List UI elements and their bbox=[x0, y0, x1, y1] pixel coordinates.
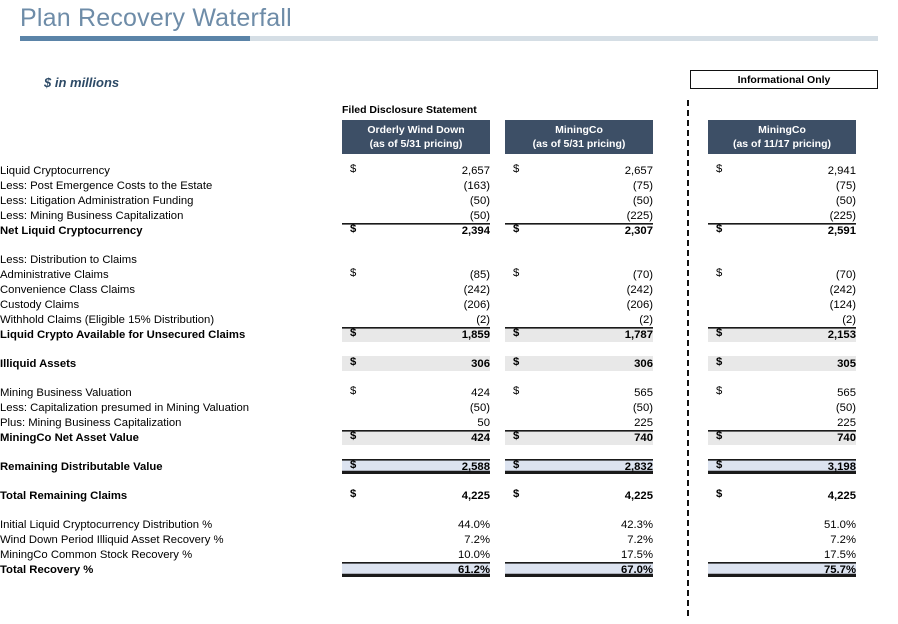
row-tail bbox=[856, 252, 898, 267]
value-cell: (225) bbox=[708, 208, 856, 223]
currency-symbol: $ bbox=[513, 488, 519, 500]
column-header-subtitle: (as of 11/17 pricing) bbox=[733, 137, 831, 151]
currency-symbol: $ bbox=[513, 327, 519, 339]
table-spacer-row bbox=[0, 474, 898, 488]
column-header-name: MiningCo bbox=[555, 123, 603, 137]
value-number: 7.2% bbox=[464, 534, 490, 546]
empty-cell bbox=[856, 371, 898, 385]
empty-cell bbox=[856, 238, 898, 252]
empty-cell bbox=[708, 503, 856, 517]
currency-symbol: $ bbox=[350, 267, 356, 279]
table-row: Less: Post Emergence Costs to the Estate… bbox=[0, 178, 898, 193]
value-cell: $740 bbox=[708, 430, 856, 445]
row-tail bbox=[856, 193, 898, 208]
value-number: 2,941 bbox=[828, 165, 856, 177]
table-row: Total Recovery %61.2%67.0%75.7% bbox=[0, 562, 898, 577]
label-value-gap bbox=[312, 223, 342, 238]
currency-symbol: $ bbox=[350, 459, 356, 471]
table-row: Remaining Distributable Value$2,588$2,83… bbox=[0, 459, 898, 474]
table-row: Initial Liquid Cryptocurrency Distributi… bbox=[0, 517, 898, 532]
currency-symbol: $ bbox=[513, 430, 519, 442]
label-value-gap bbox=[312, 415, 342, 430]
column-header-miningco-1117: MiningCo (as of 11/17 pricing) bbox=[708, 120, 856, 154]
column-separator bbox=[490, 282, 505, 297]
currency-symbol: $ bbox=[716, 459, 722, 471]
row-label bbox=[0, 342, 312, 356]
value-number: 2,153 bbox=[828, 329, 856, 341]
table-row: Withhold Claims (Eligible 15% Distributi… bbox=[0, 312, 898, 327]
value-cell bbox=[708, 252, 856, 267]
value-number: (206) bbox=[464, 299, 490, 311]
value-number: 306 bbox=[471, 358, 490, 370]
row-tail bbox=[856, 459, 898, 474]
column-separator bbox=[653, 193, 708, 208]
column-separator bbox=[490, 193, 505, 208]
label-value-gap bbox=[312, 474, 342, 488]
value-number: (2) bbox=[842, 314, 856, 326]
value-cell: $424 bbox=[342, 430, 490, 445]
row-tail bbox=[856, 178, 898, 193]
row-label bbox=[0, 238, 312, 252]
row-tail bbox=[856, 163, 898, 178]
label-value-gap bbox=[312, 297, 342, 312]
column-separator bbox=[490, 459, 505, 474]
value-number: 424 bbox=[471, 432, 490, 444]
label-value-gap bbox=[312, 178, 342, 193]
value-number: 2,591 bbox=[828, 225, 856, 237]
column-separator bbox=[653, 562, 708, 577]
value-number: 565 bbox=[634, 387, 653, 399]
empty-cell bbox=[653, 474, 708, 488]
value-cell: (50) bbox=[342, 400, 490, 415]
value-cell: $2,588 bbox=[342, 459, 490, 474]
value-cell: 10.0% bbox=[342, 547, 490, 562]
empty-cell bbox=[856, 445, 898, 459]
empty-cell bbox=[505, 503, 653, 517]
value-cell: (242) bbox=[708, 282, 856, 297]
row-label: Liquid Cryptocurrency bbox=[0, 163, 312, 178]
value-number: (225) bbox=[830, 210, 856, 222]
value-number: (50) bbox=[633, 402, 653, 414]
currency-symbol: $ bbox=[350, 356, 356, 368]
row-label: Less: Post Emergence Costs to the Estate bbox=[0, 178, 312, 193]
currency-symbol: $ bbox=[513, 267, 519, 279]
column-separator bbox=[653, 282, 708, 297]
row-tail bbox=[856, 415, 898, 430]
row-tail bbox=[856, 327, 898, 342]
table-row: Liquid Cryptocurrency$2,657$2,657$2,941 bbox=[0, 163, 898, 178]
empty-cell bbox=[856, 503, 898, 517]
table-row: MiningCo Common Stock Recovery %10.0%17.… bbox=[0, 547, 898, 562]
column-separator bbox=[490, 547, 505, 562]
empty-cell bbox=[342, 445, 490, 459]
value-cell: 42.3% bbox=[505, 517, 653, 532]
label-value-gap bbox=[312, 312, 342, 327]
row-tail bbox=[856, 282, 898, 297]
label-value-gap bbox=[312, 327, 342, 342]
value-cell: (75) bbox=[708, 178, 856, 193]
value-cell: $(85) bbox=[342, 267, 490, 282]
table-row: Less: Capitalization presumed in Mining … bbox=[0, 400, 898, 415]
table-row: Wind Down Period Illiquid Asset Recovery… bbox=[0, 532, 898, 547]
empty-cell bbox=[653, 371, 708, 385]
page-title: Plan Recovery Waterfall bbox=[20, 4, 292, 33]
filed-disclosure-statement-caption: Filed Disclosure Statement bbox=[342, 104, 477, 116]
value-cell: $306 bbox=[505, 356, 653, 371]
row-label: Wind Down Period Illiquid Asset Recovery… bbox=[0, 532, 312, 547]
row-tail bbox=[856, 208, 898, 223]
empty-cell bbox=[342, 238, 490, 252]
column-separator bbox=[653, 430, 708, 445]
value-number: 51.0% bbox=[824, 519, 856, 531]
currency-symbol: $ bbox=[513, 385, 519, 397]
value-cell: $2,832 bbox=[505, 459, 653, 474]
value-cell: (50) bbox=[708, 193, 856, 208]
column-separator bbox=[490, 223, 505, 238]
value-cell: $2,657 bbox=[505, 163, 653, 178]
empty-cell bbox=[653, 238, 708, 252]
row-tail bbox=[856, 430, 898, 445]
label-value-gap bbox=[312, 193, 342, 208]
column-separator bbox=[653, 488, 708, 503]
row-label: Administrative Claims bbox=[0, 267, 312, 282]
value-number: 225 bbox=[837, 417, 856, 429]
column-separator bbox=[653, 356, 708, 371]
currency-symbol: $ bbox=[513, 163, 519, 175]
value-number: 44.0% bbox=[458, 519, 490, 531]
row-label: Less: Capitalization presumed in Mining … bbox=[0, 400, 312, 415]
value-cell: 7.2% bbox=[708, 532, 856, 547]
row-label: MiningCo Net Asset Value bbox=[0, 430, 312, 445]
value-number: (124) bbox=[830, 299, 856, 311]
row-tail bbox=[856, 267, 898, 282]
currency-symbol: $ bbox=[716, 223, 722, 235]
title-area: Plan Recovery Waterfall bbox=[0, 0, 898, 46]
empty-cell bbox=[490, 342, 505, 356]
value-cell: (50) bbox=[708, 400, 856, 415]
title-underline-light bbox=[250, 36, 878, 41]
value-number: 4,225 bbox=[625, 490, 653, 502]
row-label: Convenience Class Claims bbox=[0, 282, 312, 297]
row-label: Plus: Mining Business Capitalization bbox=[0, 415, 312, 430]
empty-cell bbox=[856, 474, 898, 488]
currency-symbol: $ bbox=[716, 327, 722, 339]
value-number: 7.2% bbox=[830, 534, 856, 546]
table-row: Mining Business Valuation$424$565$565 bbox=[0, 385, 898, 400]
value-cell: (2) bbox=[505, 312, 653, 327]
value-number: 42.3% bbox=[621, 519, 653, 531]
value-cell: 7.2% bbox=[505, 532, 653, 547]
currency-symbol: $ bbox=[350, 488, 356, 500]
value-cell: $2,941 bbox=[708, 163, 856, 178]
row-tail bbox=[856, 356, 898, 371]
row-tail bbox=[856, 547, 898, 562]
row-label: Less: Mining Business Capitalization bbox=[0, 208, 312, 223]
value-cell: $4,225 bbox=[708, 488, 856, 503]
row-label bbox=[0, 371, 312, 385]
row-tail bbox=[856, 223, 898, 238]
empty-cell bbox=[653, 342, 708, 356]
value-cell: $2,153 bbox=[708, 327, 856, 342]
value-cell: $(70) bbox=[708, 267, 856, 282]
empty-cell bbox=[653, 503, 708, 517]
value-number: (242) bbox=[464, 284, 490, 296]
plan-recovery-waterfall-table: Liquid Cryptocurrency$2,657$2,657$2,941L… bbox=[0, 163, 898, 577]
value-number: (242) bbox=[627, 284, 653, 296]
value-cell: $2,591 bbox=[708, 223, 856, 238]
label-value-gap bbox=[312, 356, 342, 371]
label-value-gap bbox=[312, 547, 342, 562]
value-number: 2,307 bbox=[625, 225, 653, 237]
value-number: 17.5% bbox=[824, 549, 856, 561]
row-label: Withhold Claims (Eligible 15% Distributi… bbox=[0, 312, 312, 327]
table-body: Liquid Cryptocurrency$2,657$2,657$2,941L… bbox=[0, 163, 898, 577]
row-label: Custody Claims bbox=[0, 297, 312, 312]
row-label: Liquid Crypto Available for Unsecured Cl… bbox=[0, 327, 312, 342]
value-cell: (206) bbox=[342, 297, 490, 312]
row-label bbox=[0, 503, 312, 517]
value-cell: $306 bbox=[342, 356, 490, 371]
value-cell: $424 bbox=[342, 385, 490, 400]
column-separator bbox=[653, 415, 708, 430]
column-separator bbox=[653, 208, 708, 223]
title-underline-accent bbox=[20, 36, 250, 41]
value-cell: (242) bbox=[342, 282, 490, 297]
row-tail bbox=[856, 400, 898, 415]
value-cell: $4,225 bbox=[342, 488, 490, 503]
table-row: Convenience Class Claims(242)(242)(242) bbox=[0, 282, 898, 297]
column-separator bbox=[653, 385, 708, 400]
value-cell: (163) bbox=[342, 178, 490, 193]
value-cell bbox=[342, 252, 490, 267]
value-cell: $2,307 bbox=[505, 223, 653, 238]
table-row: Less: Litigation Administration Funding(… bbox=[0, 193, 898, 208]
column-separator bbox=[490, 163, 505, 178]
label-value-gap bbox=[312, 562, 342, 577]
column-separator bbox=[490, 532, 505, 547]
value-number: (75) bbox=[836, 180, 856, 192]
value-cell: $2,394 bbox=[342, 223, 490, 238]
value-cell: (2) bbox=[342, 312, 490, 327]
value-cell: $1,859 bbox=[342, 327, 490, 342]
row-label: Less: Litigation Administration Funding bbox=[0, 193, 312, 208]
value-number: (50) bbox=[470, 195, 490, 207]
row-tail bbox=[856, 297, 898, 312]
empty-cell bbox=[505, 371, 653, 385]
empty-cell bbox=[490, 445, 505, 459]
label-value-gap bbox=[312, 517, 342, 532]
column-separator bbox=[490, 327, 505, 342]
value-number: 2,832 bbox=[625, 461, 653, 473]
table-row: Net Liquid Cryptocurrency$2,394$2,307$2,… bbox=[0, 223, 898, 238]
value-number: (2) bbox=[639, 314, 653, 326]
empty-cell bbox=[856, 342, 898, 356]
table-row: Administrative Claims$(85)$(70)$(70) bbox=[0, 267, 898, 282]
empty-cell bbox=[490, 238, 505, 252]
table-row: Liquid Crypto Available for Unsecured Cl… bbox=[0, 327, 898, 342]
value-number: (163) bbox=[464, 180, 490, 192]
column-separator bbox=[490, 517, 505, 532]
empty-cell bbox=[708, 474, 856, 488]
column-separator bbox=[653, 400, 708, 415]
row-tail bbox=[856, 532, 898, 547]
value-cell: (50) bbox=[342, 208, 490, 223]
row-label: Total Recovery % bbox=[0, 562, 312, 577]
column-separator bbox=[490, 356, 505, 371]
row-label: Total Remaining Claims bbox=[0, 488, 312, 503]
column-separator bbox=[653, 163, 708, 178]
column-separator bbox=[653, 252, 708, 267]
table-spacer-row bbox=[0, 342, 898, 356]
label-value-gap bbox=[312, 430, 342, 445]
value-cell: $740 bbox=[505, 430, 653, 445]
row-label: Less: Distribution to Claims bbox=[0, 252, 312, 267]
value-cell: (50) bbox=[505, 400, 653, 415]
currency-symbol: $ bbox=[716, 385, 722, 397]
value-number: (50) bbox=[836, 195, 856, 207]
value-number: (206) bbox=[627, 299, 653, 311]
currency-symbol: $ bbox=[716, 356, 722, 368]
label-value-gap bbox=[312, 267, 342, 282]
label-value-gap bbox=[312, 342, 342, 356]
empty-cell bbox=[490, 474, 505, 488]
column-header-miningco-531: MiningCo (as of 5/31 pricing) bbox=[505, 120, 653, 154]
row-label bbox=[0, 474, 312, 488]
value-number: 2,657 bbox=[462, 165, 490, 177]
row-tail bbox=[856, 488, 898, 503]
value-cell: (124) bbox=[708, 297, 856, 312]
row-label: Net Liquid Cryptocurrency bbox=[0, 223, 312, 238]
value-number: 75.7% bbox=[824, 564, 856, 576]
value-cell: $4,225 bbox=[505, 488, 653, 503]
table-row: Less: Mining Business Capitalization(50)… bbox=[0, 208, 898, 223]
value-number: 4,225 bbox=[828, 490, 856, 502]
value-cell: 44.0% bbox=[342, 517, 490, 532]
column-separator bbox=[653, 532, 708, 547]
value-number: (50) bbox=[633, 195, 653, 207]
value-cell: $565 bbox=[505, 385, 653, 400]
empty-cell bbox=[653, 445, 708, 459]
column-header-subtitle: (as of 5/31 pricing) bbox=[533, 137, 626, 151]
value-cell: (50) bbox=[505, 193, 653, 208]
units-label: $ in millions bbox=[44, 75, 119, 90]
empty-cell bbox=[342, 503, 490, 517]
table-row: Plus: Mining Business Capitalization5022… bbox=[0, 415, 898, 430]
empty-cell bbox=[490, 503, 505, 517]
value-cell: $2,657 bbox=[342, 163, 490, 178]
table-row: MiningCo Net Asset Value$424$740$740 bbox=[0, 430, 898, 445]
value-cell: (75) bbox=[505, 178, 653, 193]
column-separator bbox=[653, 267, 708, 282]
column-separator bbox=[490, 415, 505, 430]
table-spacer-row bbox=[0, 238, 898, 252]
value-cell: 225 bbox=[708, 415, 856, 430]
empty-cell bbox=[342, 342, 490, 356]
table-row: Custody Claims(206)(206)(124) bbox=[0, 297, 898, 312]
value-number: 3,198 bbox=[828, 461, 856, 473]
column-separator bbox=[490, 430, 505, 445]
label-value-gap bbox=[312, 238, 342, 252]
empty-cell bbox=[708, 371, 856, 385]
column-header-name: MiningCo bbox=[758, 123, 806, 137]
row-label: Initial Liquid Cryptocurrency Distributi… bbox=[0, 517, 312, 532]
column-separator bbox=[653, 223, 708, 238]
label-value-gap bbox=[312, 371, 342, 385]
informational-only-badge: Informational Only bbox=[690, 70, 878, 89]
row-label: Remaining Distributable Value bbox=[0, 459, 312, 474]
currency-symbol: $ bbox=[513, 223, 519, 235]
column-header-name: Orderly Wind Down bbox=[367, 123, 464, 137]
currency-symbol: $ bbox=[350, 163, 356, 175]
value-cell: 225 bbox=[505, 415, 653, 430]
currency-symbol: $ bbox=[513, 356, 519, 368]
row-label bbox=[0, 445, 312, 459]
value-number: 61.2% bbox=[458, 564, 490, 576]
value-cell: (242) bbox=[505, 282, 653, 297]
value-cell: 75.7% bbox=[708, 562, 856, 577]
currency-symbol: $ bbox=[716, 488, 722, 500]
value-number: 67.0% bbox=[621, 564, 653, 576]
currency-symbol: $ bbox=[716, 267, 722, 279]
table-row: Less: Distribution to Claims bbox=[0, 252, 898, 267]
value-number: 1,859 bbox=[462, 329, 490, 341]
column-separator bbox=[653, 517, 708, 532]
value-cell: 67.0% bbox=[505, 562, 653, 577]
value-number: 740 bbox=[837, 432, 856, 444]
value-number: (225) bbox=[627, 210, 653, 222]
value-number: 2,588 bbox=[462, 461, 490, 473]
label-value-gap bbox=[312, 400, 342, 415]
table-spacer-row bbox=[0, 445, 898, 459]
value-number: (70) bbox=[836, 269, 856, 281]
value-number: (85) bbox=[470, 269, 490, 281]
row-label: Mining Business Valuation bbox=[0, 385, 312, 400]
label-value-gap bbox=[312, 445, 342, 459]
value-cell: (225) bbox=[505, 208, 653, 223]
row-label: MiningCo Common Stock Recovery % bbox=[0, 547, 312, 562]
value-number: 740 bbox=[634, 432, 653, 444]
value-number: 50 bbox=[477, 417, 490, 429]
value-number: 1,787 bbox=[625, 329, 653, 341]
value-cell: $305 bbox=[708, 356, 856, 371]
column-separator bbox=[490, 267, 505, 282]
empty-cell bbox=[505, 342, 653, 356]
value-number: (50) bbox=[470, 210, 490, 222]
value-number: 7.2% bbox=[627, 534, 653, 546]
value-number: (70) bbox=[633, 269, 653, 281]
column-separator bbox=[653, 459, 708, 474]
value-cell: $3,198 bbox=[708, 459, 856, 474]
value-cell: (2) bbox=[708, 312, 856, 327]
empty-cell bbox=[708, 445, 856, 459]
currency-symbol: $ bbox=[350, 223, 356, 235]
value-number: 2,394 bbox=[462, 225, 490, 237]
value-number: 424 bbox=[471, 387, 490, 399]
value-number: 305 bbox=[837, 358, 856, 370]
row-tail bbox=[856, 517, 898, 532]
column-separator bbox=[490, 400, 505, 415]
column-separator bbox=[490, 208, 505, 223]
value-cell: 51.0% bbox=[708, 517, 856, 532]
column-separator bbox=[490, 385, 505, 400]
column-separator bbox=[653, 327, 708, 342]
column-separator bbox=[490, 297, 505, 312]
empty-cell bbox=[505, 238, 653, 252]
value-cell bbox=[505, 252, 653, 267]
value-number: (50) bbox=[836, 402, 856, 414]
empty-cell bbox=[342, 474, 490, 488]
currency-symbol: $ bbox=[513, 459, 519, 471]
